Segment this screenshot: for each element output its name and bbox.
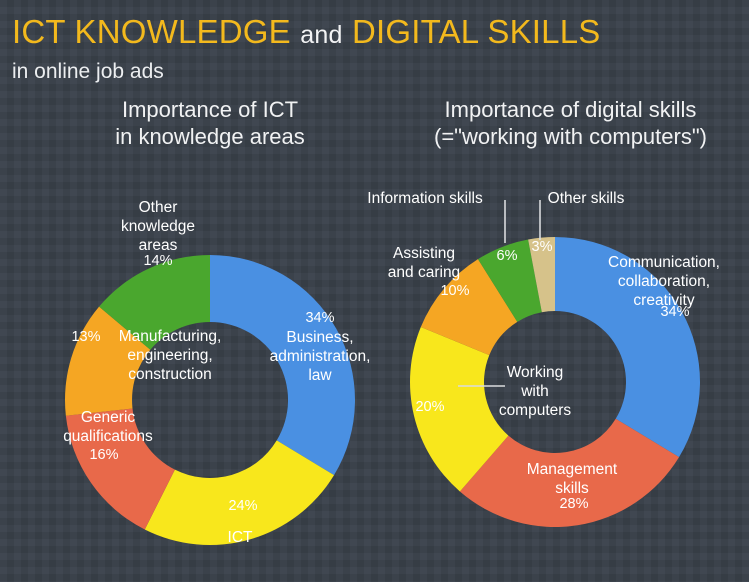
slice-label: Workingwithcomputers [499, 364, 572, 419]
page-title: ICT KNOWLEDGE and DIGITAL SKILLS [12, 12, 742, 55]
title-part-digital-skills: DIGITAL SKILLS [352, 13, 601, 50]
title-part-ict-knowledge: ICT KNOWLEDGE [12, 13, 291, 50]
panel-title-right-line2: (="working with computers") [392, 123, 749, 150]
donut-slice[interactable] [555, 237, 700, 457]
slice-label: Otherknowledgeareas [121, 199, 195, 254]
donut-slice[interactable] [210, 255, 355, 475]
header: ICT KNOWLEDGE and DIGITAL SKILLS in onli… [12, 12, 742, 85]
panel-title-left-line2: in knowledge areas [40, 123, 380, 150]
slice-label: Information skills [367, 190, 483, 207]
title-conjunction: and [300, 21, 342, 49]
panel-title-knowledge-areas: Importance of ICT in knowledge areas [40, 96, 380, 150]
infographic-page: ICT KNOWLEDGE and DIGITAL SKILLS in onli… [0, 0, 749, 582]
panel-title-left-line1: Importance of ICT [40, 96, 380, 123]
page-subtitle: in online job ads [12, 59, 742, 85]
slice-label: Other skills [548, 190, 625, 207]
panel-title-right-line1: Importance of digital skills [392, 96, 749, 123]
panel-title-digital-skills: Importance of digital skills (="working … [392, 96, 749, 150]
slice-label: Assistingand caring [388, 245, 460, 281]
